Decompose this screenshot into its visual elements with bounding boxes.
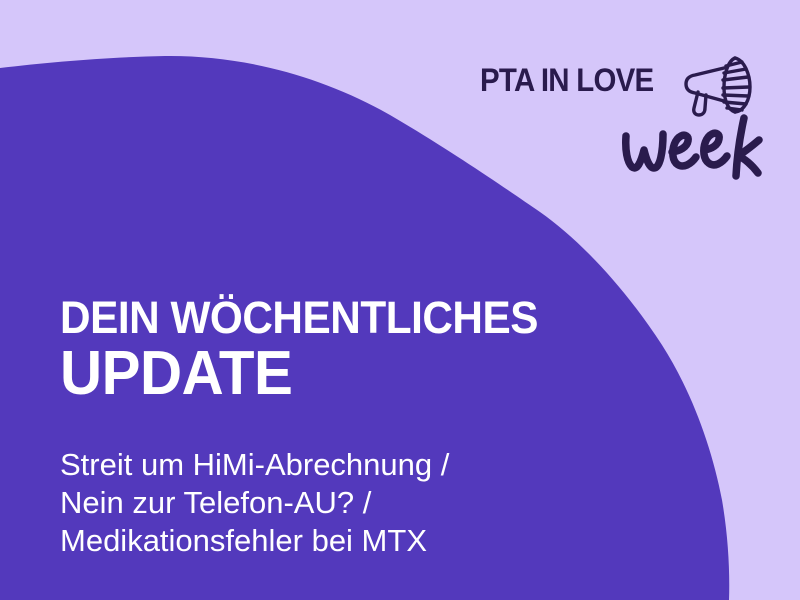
brand-wordmark: PTA IN LOVE <box>480 64 653 96</box>
subtitle-line-2: Nein zur Telefon-AU? / <box>60 484 700 522</box>
subtitle-line-1: Streit um HiMi-Abrechnung / <box>60 446 700 484</box>
headline-line-1: DEIN WÖCHENTLICHES <box>60 296 643 340</box>
headline-block: DEIN WÖCHENTLICHES UPDATE <box>60 296 680 405</box>
promo-card: PTA IN LOVE <box>0 0 800 600</box>
headline-line-2: UPDATE <box>60 344 643 405</box>
subtitle-block: Streit um HiMi-Abrechnung / Nein zur Tel… <box>60 446 700 560</box>
brand-lockup: PTA IN LOVE <box>470 48 770 188</box>
brand-week-script <box>618 110 768 188</box>
subtitle-line-3: Medikationsfehler bei MTX <box>60 522 700 560</box>
